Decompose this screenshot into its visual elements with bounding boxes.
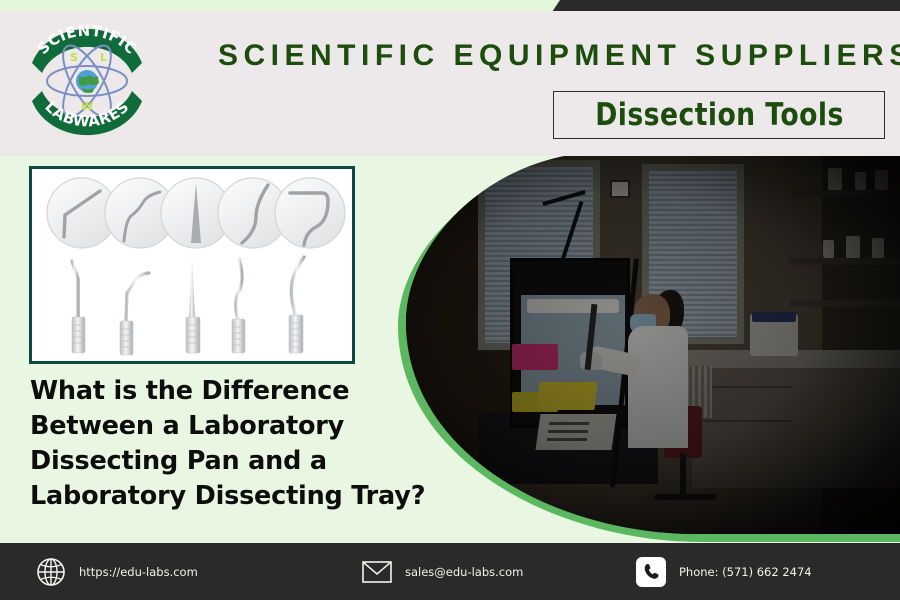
phone-icon — [636, 557, 666, 587]
footer-website[interactable]: https://edu-labs.com — [36, 557, 198, 587]
lab-photo — [392, 156, 900, 542]
poster-canvas: S L W SCIENTIFIC LABWARES SCIENTIFIC EQU… — [0, 0, 900, 600]
footer-phone-label: Phone: (571) 662 2474 — [679, 565, 812, 579]
page-title: SCIENTIFIC EQUIPMENT SUPPLIERS — [218, 39, 890, 73]
svg-text:L: L — [100, 51, 107, 64]
category-badge-label: Dissection Tools — [595, 97, 844, 133]
lab-photo-clip — [392, 154, 900, 540]
category-badge: Dissection Tools — [553, 91, 885, 139]
article-headline: What is the Difference Between a Laborat… — [30, 374, 450, 514]
dissection-tools-illustration — [32, 169, 352, 361]
page-header: S L W SCIENTIFIC LABWARES SCIENTIFIC EQU… — [0, 11, 900, 156]
lab-scene — [392, 154, 900, 540]
svg-text:S: S — [70, 51, 78, 64]
globe-icon — [36, 557, 66, 587]
footer-email-label: sales@edu-labs.com — [405, 565, 523, 579]
svg-text:W: W — [81, 100, 93, 113]
footer-phone[interactable]: Phone: (571) 662 2474 — [636, 557, 812, 587]
brand-logo[interactable]: S L W SCIENTIFIC LABWARES — [22, 17, 152, 145]
product-image[interactable] — [29, 166, 355, 364]
page-footer: https://edu-labs.com sales@edu-labs.com … — [0, 543, 900, 600]
envelope-icon — [362, 561, 392, 583]
logo-svg: S L W SCIENTIFIC LABWARES — [22, 17, 152, 145]
footer-email[interactable]: sales@edu-labs.com — [362, 561, 523, 583]
footer-website-label: https://edu-labs.com — [79, 565, 198, 579]
